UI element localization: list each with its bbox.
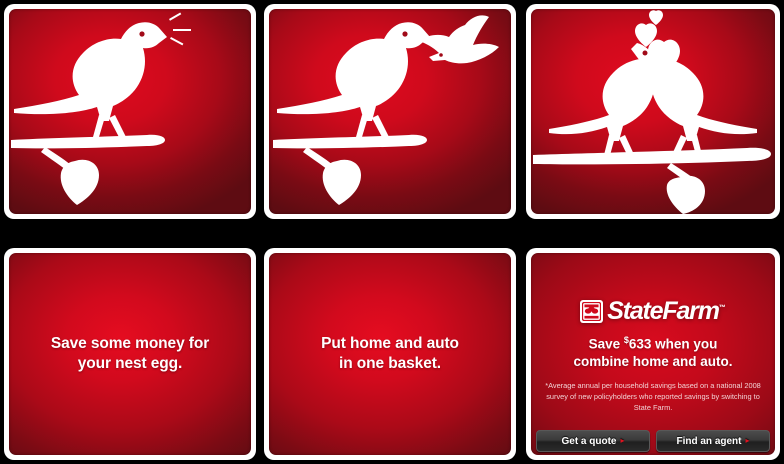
- state-farm-logo: StateFarm™: [580, 299, 725, 324]
- panel-bird-flying[interactable]: [264, 4, 516, 219]
- message-line-2: your nest egg.: [9, 354, 251, 374]
- find-an-agent-label: Find an agent: [676, 436, 741, 447]
- panel-background: [269, 9, 511, 214]
- offer-headline-line-2: combine home and auto.: [531, 353, 775, 371]
- panel-offer[interactable]: StateFarm™ Save $633 when you combine ho…: [526, 248, 780, 460]
- bird-on-branch-singing-icon: [9, 9, 251, 214]
- ad-storyboard-grid: Save some money for your nest egg. Put h…: [0, 0, 784, 464]
- panel-message-basket[interactable]: Put home and auto in one basket.: [264, 248, 516, 460]
- panel-background: Save some money for your nest egg.: [9, 253, 251, 455]
- message-text: Put home and auto in one basket.: [269, 334, 511, 374]
- savings-amount: 633: [629, 337, 652, 352]
- offer-content: StateFarm™ Save $633 when you combine ho…: [531, 299, 775, 413]
- wordmark-part-1: State: [607, 297, 662, 325]
- panel-birds-hearts[interactable]: [526, 4, 780, 219]
- state-farm-three-oval-logo-icon: [580, 300, 603, 323]
- arrow-right-icon: ▸: [621, 437, 625, 445]
- two-birds-on-branch-with-hearts-icon: [531, 9, 775, 214]
- panel-background: Put home and auto in one basket.: [269, 253, 511, 455]
- panel-message-nest-egg[interactable]: Save some money for your nest egg.: [4, 248, 256, 460]
- state-farm-wordmark: StateFarm™: [607, 299, 725, 324]
- panel-background: [531, 9, 775, 214]
- get-a-quote-button[interactable]: Get a quote ▸: [536, 430, 650, 452]
- headline-prefix: Save: [589, 337, 624, 352]
- panel-background: [9, 9, 251, 214]
- message-line-1: Save some money for: [9, 334, 251, 354]
- trademark-symbol: ™: [719, 305, 726, 312]
- wordmark-part-2: Farm: [662, 297, 718, 325]
- message-line-2: in one basket.: [269, 354, 511, 374]
- find-an-agent-button[interactable]: Find an agent ▸: [656, 430, 770, 452]
- message-line-1: Put home and auto: [269, 334, 511, 354]
- message-text: Save some money for your nest egg.: [9, 334, 251, 374]
- offer-headline-line-1: Save $633 when you: [531, 335, 775, 353]
- arrow-right-icon: ▸: [745, 437, 749, 445]
- get-a-quote-label: Get a quote: [561, 436, 616, 447]
- bird-on-branch-with-flying-bird-icon: [269, 9, 511, 214]
- offer-button-row: Get a quote ▸ Find an agent ▸: [536, 430, 770, 452]
- offer-headline: Save $633 when you combine home and auto…: [531, 335, 775, 371]
- offer-disclaimer: *Average annual per household savings ba…: [531, 380, 775, 413]
- panel-background: StateFarm™ Save $633 when you combine ho…: [531, 253, 775, 455]
- headline-rest: when you: [651, 337, 717, 352]
- panel-bird-singing[interactable]: [4, 4, 256, 219]
